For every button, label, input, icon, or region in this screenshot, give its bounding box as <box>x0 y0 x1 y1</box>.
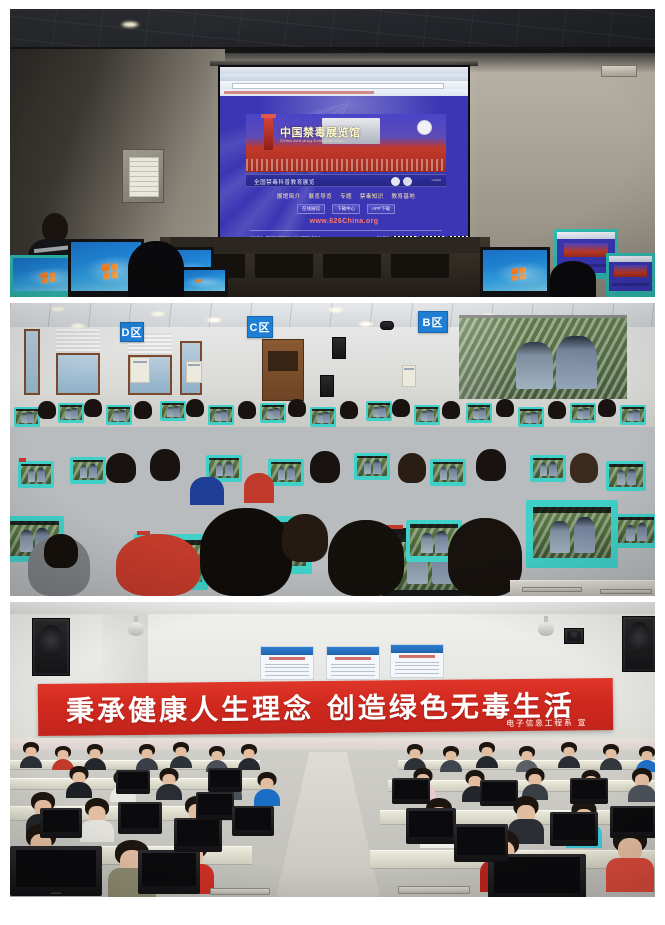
monitor <box>208 405 234 425</box>
wall-notice-box <box>122 149 164 203</box>
student-head <box>106 453 136 483</box>
monitor: Lenovo <box>10 846 102 896</box>
projection-screen <box>459 315 627 399</box>
seal-icon <box>417 120 432 135</box>
site-hero-artwork: 中国禁毒展览馆 China Anti-drug Exhibition Hall <box>246 114 446 172</box>
nav-item[interactable]: 教育基地 <box>392 192 416 200</box>
site-nav[interactable]: 展馆简介 展览导览 专题 禁毒知识 教育基地 <box>246 192 446 200</box>
student-rows: Lenovo <box>10 399 655 596</box>
front-panel <box>170 237 480 253</box>
student <box>170 742 192 768</box>
door[interactable] <box>262 339 304 401</box>
wall-speaker <box>332 337 346 359</box>
monitor <box>406 808 456 844</box>
student <box>440 746 462 772</box>
strip-logo-icon: CHINA <box>432 178 441 182</box>
monitor <box>208 768 242 792</box>
zone-sign-label: D区 <box>122 324 143 340</box>
student-head <box>282 514 328 562</box>
student-head <box>476 449 506 481</box>
site-subtitle: China Anti-drug Exhibition Hall <box>280 138 343 143</box>
monitor <box>40 808 82 838</box>
security-camera-icon <box>128 616 144 636</box>
wall-poster <box>326 646 380 680</box>
window <box>56 353 100 395</box>
nav-item[interactable]: 展览导览 <box>308 192 332 200</box>
projector-icon <box>380 321 394 330</box>
anti-drug-slogan-banner: 秉承健康人生理念 创造绿色无毒生活 电子信息工程系 宣 <box>38 678 614 736</box>
student-body <box>116 534 200 596</box>
student <box>558 742 580 768</box>
keyboard <box>398 886 470 894</box>
student <box>254 772 280 806</box>
security-camera-icon <box>538 616 554 636</box>
divider <box>250 230 442 231</box>
cabinet-panel <box>322 253 382 279</box>
monitor <box>310 407 336 427</box>
video-person <box>556 336 596 389</box>
monitor <box>196 792 234 820</box>
student-head <box>150 449 180 481</box>
zone-sign-b: B区 <box>418 311 448 333</box>
wall-poster <box>260 646 314 680</box>
monitor <box>570 778 608 804</box>
ceiling-lamp-icon <box>120 21 140 28</box>
student-head <box>310 451 340 483</box>
wall-poster <box>402 365 416 387</box>
cabinet-panel <box>390 253 450 279</box>
monitor <box>550 812 598 846</box>
student-head <box>340 401 358 419</box>
student-head <box>84 399 102 417</box>
student-head <box>570 453 598 483</box>
site-url[interactable]: www.626China.org <box>220 218 468 225</box>
monitor <box>160 401 186 421</box>
monitor <box>106 405 132 425</box>
nav-item[interactable]: 禁毒知识 <box>360 192 384 200</box>
monitor <box>614 514 655 548</box>
app-download-button[interactable]: APP下载 <box>367 204 395 214</box>
monitor <box>70 457 106 484</box>
monitor <box>480 780 518 806</box>
browser-address-bar <box>220 81 468 89</box>
keyboard <box>522 587 582 592</box>
student <box>136 744 158 770</box>
monitor <box>570 403 596 423</box>
student <box>80 798 114 842</box>
student-head <box>288 399 306 417</box>
wall-poster <box>130 357 150 383</box>
ceiling-lamp-icon <box>150 311 166 317</box>
monitor <box>14 407 40 427</box>
student-head <box>238 401 256 419</box>
zone-sign-label: C区 <box>250 319 271 335</box>
student-head <box>398 453 426 483</box>
browser-tabstrip <box>220 74 468 81</box>
student-head <box>496 399 514 417</box>
ceiling-lamp-icon <box>206 317 222 323</box>
student <box>600 744 622 770</box>
monitor <box>18 461 54 488</box>
monitor <box>610 806 655 838</box>
monitor <box>466 403 492 423</box>
online-hall-button[interactable]: 在线展馆 <box>297 204 325 214</box>
student <box>628 768 655 802</box>
monitor <box>606 253 655 297</box>
cabinet-panel <box>254 253 314 279</box>
monitor <box>480 247 550 297</box>
wall-poster <box>390 644 444 678</box>
monitor <box>116 770 150 794</box>
video-person <box>516 342 553 389</box>
badge-icon <box>391 177 400 186</box>
site-button-row[interactable]: 在线展馆 下载中心 APP下载 <box>246 204 446 214</box>
student-head <box>392 399 410 417</box>
wall-speaker <box>564 628 584 644</box>
zone-sign-label: B区 <box>423 314 444 330</box>
window-blind <box>56 329 100 355</box>
photo-lab-red-banner: 秉承健康人生理念 创造绿色无毒生活 电子信息工程系 宣 <box>10 602 655 897</box>
wall-unit <box>601 65 637 77</box>
nav-item[interactable]: 展馆简介 <box>277 192 301 200</box>
banner-signature: 电子信息工程系 宣 <box>506 717 587 729</box>
projection-screen: 中国禁毒展览馆 China Anti-drug Exhibition Hall … <box>218 65 470 260</box>
student <box>404 744 426 770</box>
monitor <box>620 405 646 425</box>
student <box>238 744 260 770</box>
photo-lab-rows-watching-video: D区 C区 B区 <box>10 303 655 596</box>
photo-collage-page: 中国禁毒展览馆 China Anti-drug Exhibition Hall … <box>0 0 665 925</box>
exhibition-strip-label: 全国禁毒科普教育展览 <box>254 178 315 186</box>
student-head <box>548 401 566 419</box>
wall-speaker <box>320 375 334 397</box>
student <box>66 766 92 798</box>
badge-icon <box>403 177 412 186</box>
zone-sign-c: C区 <box>247 316 273 338</box>
monitor <box>118 802 162 834</box>
window <box>24 329 40 395</box>
projected-webpage: 中国禁毒展览馆 China Anti-drug Exhibition Hall … <box>220 96 468 246</box>
download-center-button[interactable]: 下载中心 <box>332 204 360 214</box>
student-head <box>44 534 78 568</box>
monitor <box>518 407 544 427</box>
student-head <box>186 399 204 417</box>
person-silhouette <box>128 241 184 297</box>
monitor <box>174 818 222 852</box>
student-head <box>442 401 460 419</box>
monitor <box>366 401 392 421</box>
monitor <box>530 455 566 482</box>
student-head <box>598 399 616 417</box>
monitor <box>58 403 84 423</box>
monitor <box>354 453 390 480</box>
nav-item[interactable]: 专题 <box>340 192 352 200</box>
projected-video <box>459 318 627 399</box>
person-silhouette <box>550 261 596 297</box>
monitor <box>232 806 274 836</box>
student-head <box>38 401 56 419</box>
monitor <box>430 459 466 486</box>
monitor <box>414 405 440 425</box>
student-head <box>200 508 292 596</box>
wall-speaker <box>32 618 70 676</box>
monitor <box>392 778 430 804</box>
ceiling-lamp-icon <box>358 321 374 327</box>
monitor <box>454 824 508 862</box>
wall-speaker <box>622 616 655 672</box>
monument-icon <box>264 116 273 150</box>
exhibition-strip: 全国禁毒科普教育展览 CHINA <box>246 174 446 187</box>
keyboard <box>210 888 270 895</box>
browser-bookmarks-bar <box>220 89 468 96</box>
photo-projector-lecture-hall: 中国禁毒展览馆 China Anti-drug Exhibition Hall … <box>10 9 655 297</box>
student <box>20 742 42 768</box>
keyboard <box>600 589 652 594</box>
student-head <box>134 401 152 419</box>
monitor <box>138 850 200 894</box>
monitor <box>526 500 618 568</box>
monitor <box>260 403 286 423</box>
student-head <box>328 520 404 596</box>
ceiling-lamp-icon <box>328 307 344 313</box>
student <box>156 768 182 800</box>
wall-poster <box>186 361 202 383</box>
ceiling-lamp-icon <box>50 306 66 312</box>
browser-titlebar <box>220 67 468 74</box>
student <box>476 742 498 768</box>
zone-sign-d: D区 <box>120 322 144 342</box>
